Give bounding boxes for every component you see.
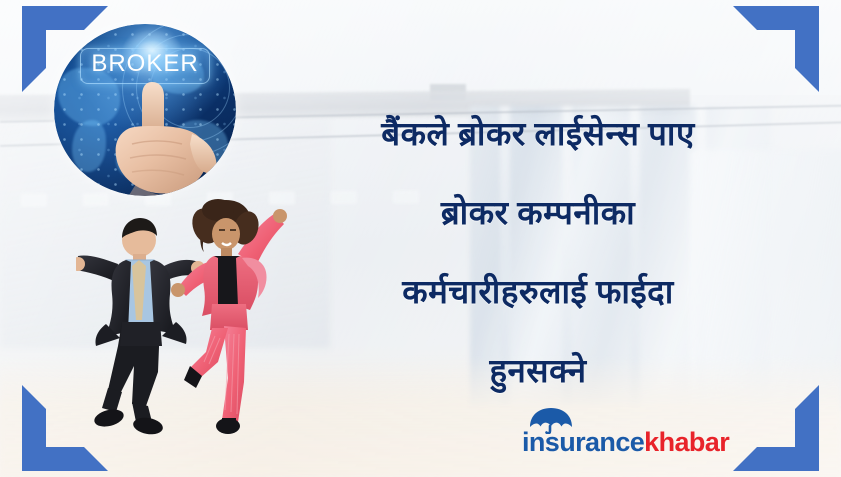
headline-line-4: हुनसक्ने [282,333,794,412]
news-banner: BROKER [0,0,841,477]
jumping-couple-photo [76,196,316,448]
site-logo[interactable]: insurancekhabar [522,407,742,459]
pointing-hand-icon [100,80,224,196]
broker-label: BROKER [54,50,236,78]
woman-figure [171,199,287,434]
logo-text-khabar: khabar [644,427,729,457]
man-figure [76,218,205,436]
corner-bracket-top-right-icon [733,6,819,92]
headline-line-3: कर्मचारीहरुलाई फाईदा [282,254,794,333]
logo-wordmark: insurancekhabar [522,427,729,458]
logo-text-insurance: insurance [522,427,644,457]
page-title: बैंकले ब्रोकर लाईसेन्स पाए ब्रोकर कम्पनी… [282,96,794,412]
broker-badge-image: BROKER [54,24,236,196]
headline-line-1: बैंकले ब्रोकर लाईसेन्स पाए [282,96,794,175]
headline-line-2: ब्रोकर कम्पनीका [282,175,794,254]
